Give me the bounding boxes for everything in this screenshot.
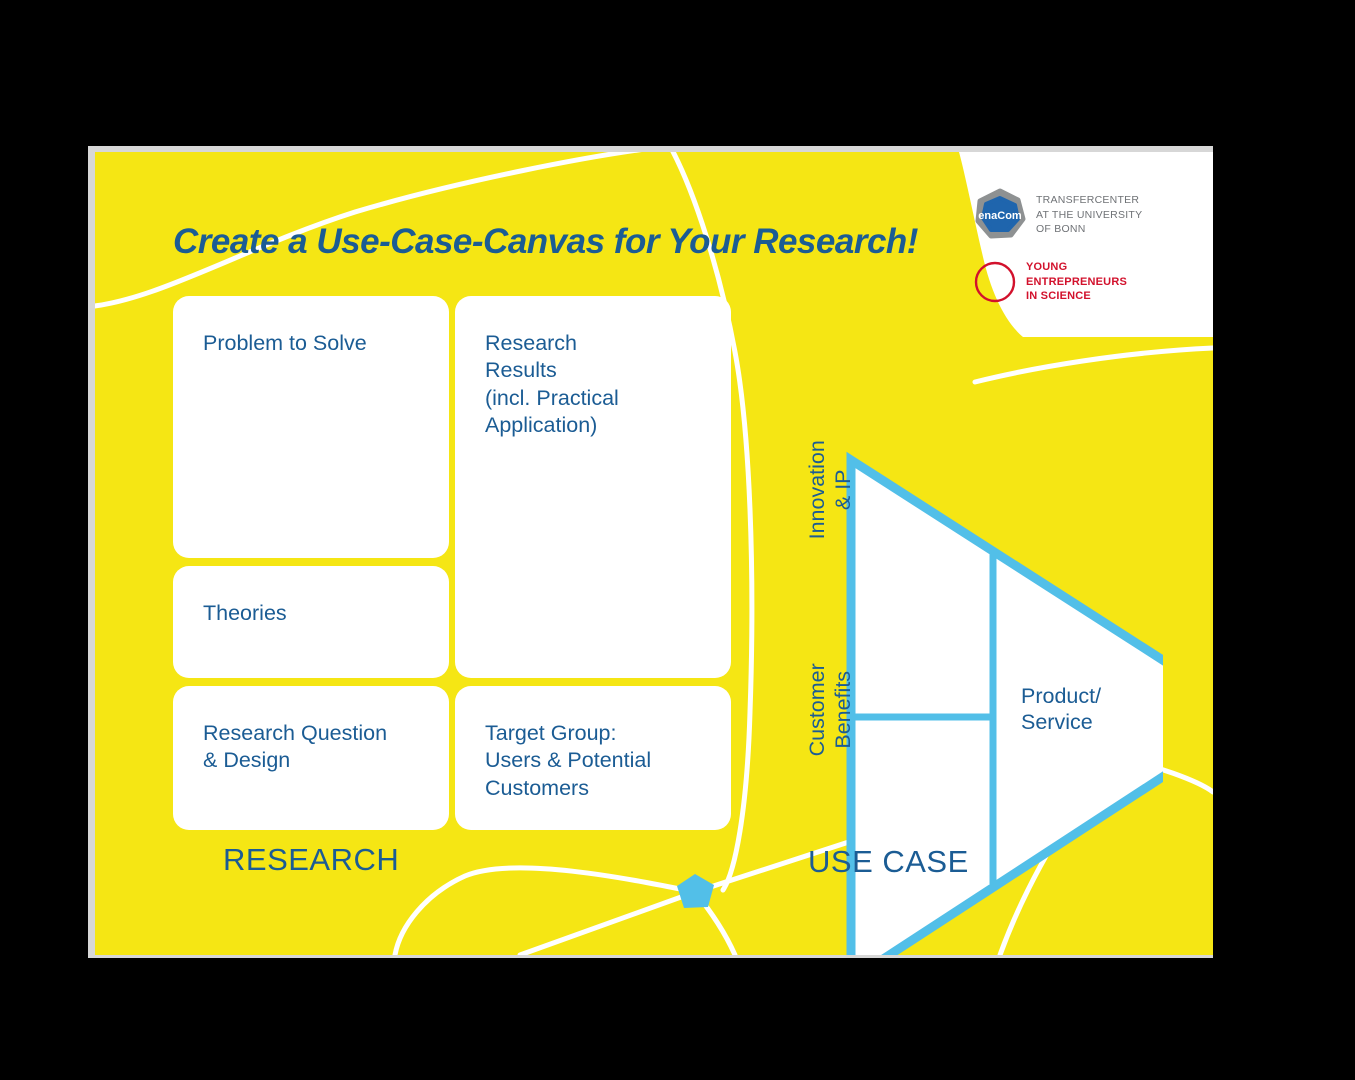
card-research-results[interactable]: Research Results (incl. Practical Applic… xyxy=(455,296,731,678)
section-label-use-case: USE CASE xyxy=(808,844,969,880)
card-theories[interactable]: Theories xyxy=(173,566,449,678)
card-label: Theories xyxy=(203,600,419,627)
network-line-bottom-node-2 xyxy=(695,892,735,955)
enacom-line-2: AT THE UNIVERSITY xyxy=(1036,208,1142,223)
card-label: Research Question & Design xyxy=(203,720,419,775)
enacom-line-3: OF BONN xyxy=(1036,222,1142,237)
yeis-line-2: ENTREPRENEURS xyxy=(1026,275,1127,290)
node-blue xyxy=(677,874,714,908)
triangle-segment-product-service[interactable]: Product/ Service xyxy=(1021,684,1101,736)
enacom-line-1: TRANSFERCENTER xyxy=(1036,193,1142,208)
enacom-logo: enaCom TRANSFERCENTER AT THE UNIVERSITY … xyxy=(973,188,1142,242)
card-label: Target Group: Users & Potential Customer… xyxy=(485,720,701,802)
card-label: Research Results (incl. Practical Applic… xyxy=(485,330,701,439)
section-label-research: RESEARCH xyxy=(223,842,399,878)
card-label: Problem to Solve xyxy=(203,330,419,357)
triangle-segment-innovation-ip[interactable]: Innovation & IP xyxy=(805,390,857,590)
card-target-group[interactable]: Target Group: Users & Potential Customer… xyxy=(455,686,731,830)
enacom-logo-icon: enaCom xyxy=(973,188,1027,242)
network-line-bottom-left xyxy=(395,868,695,955)
svg-text:enaCom: enaCom xyxy=(978,210,1022,222)
triangle-segment-customer-benefits[interactable]: Customer Benefits xyxy=(805,610,857,810)
network-line-bottom-node-1 xyxy=(520,892,695,955)
card-research-question-design[interactable]: Research Question & Design xyxy=(173,686,449,830)
page-title: Create a Use-Case-Canvas for Your Resear… xyxy=(173,222,918,262)
card-problem-to-solve[interactable]: Problem to Solve xyxy=(173,296,449,558)
screenshot-root: Create a Use-Case-Canvas for Your Resear… xyxy=(0,0,1355,1080)
use-case-canvas: Create a Use-Case-Canvas for Your Resear… xyxy=(95,152,1213,955)
enacom-logo-text: TRANSFERCENTER AT THE UNIVERSITY OF BONN xyxy=(1036,193,1142,238)
yeis-line-1: YOUNG xyxy=(1026,260,1127,275)
